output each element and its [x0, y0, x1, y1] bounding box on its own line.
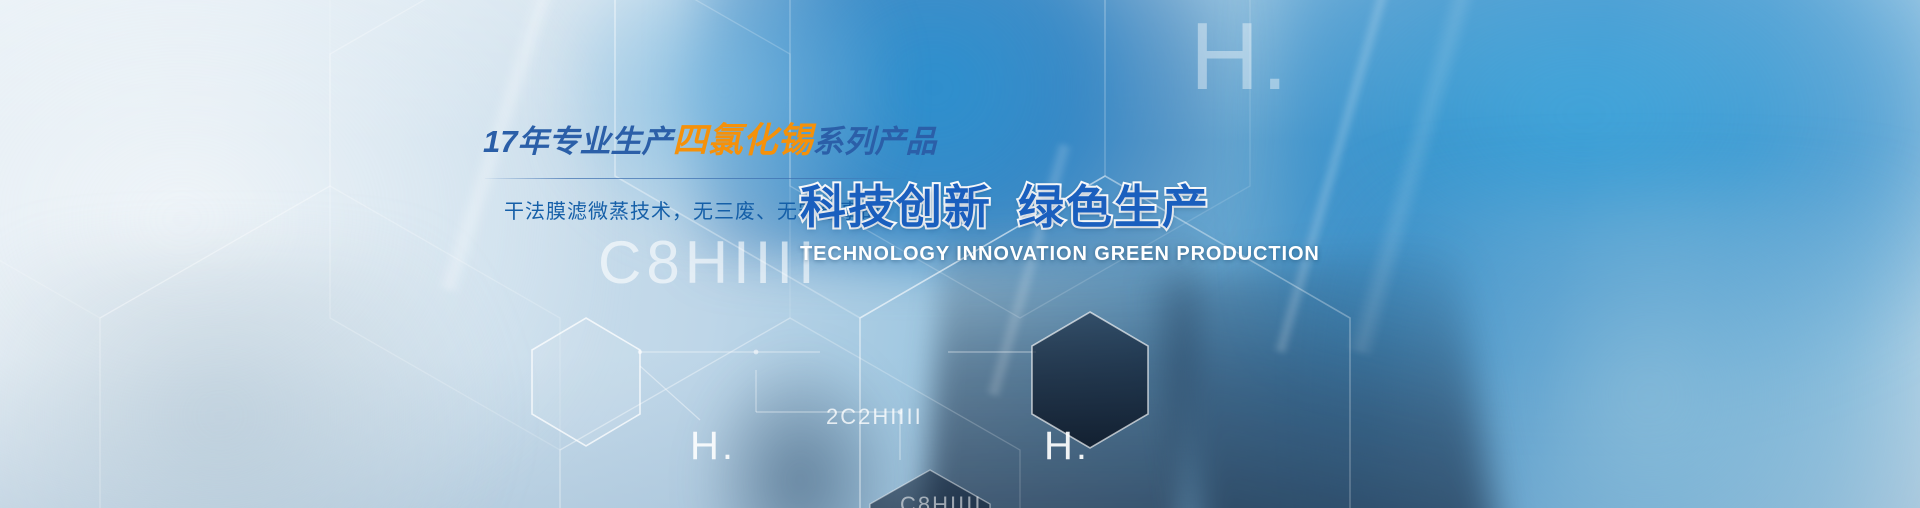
- headline-prefix: 17年专业生产: [483, 124, 672, 159]
- headline-suffix: 系列产品: [813, 124, 937, 159]
- banner-slogan: 科技创新绿色生产: [800, 182, 1190, 233]
- slogan-part-two: 绿色生产: [1018, 181, 1210, 233]
- decor-formula-c8h: C8HIIII: [598, 228, 820, 297]
- hero-banner: C8HIIII 2C2HIIII C8HIIII H. H. H. 17年专业生…: [0, 0, 1920, 508]
- decor-atom-h-left: H.: [690, 424, 736, 469]
- slogan-part-one: 科技创新: [800, 181, 992, 233]
- headline-accent-product: 四氯化锡: [672, 121, 812, 160]
- decor-formula-2c2h: 2C2HIIII: [826, 404, 923, 430]
- banner-slogan-english: TECHNOLOGY INNOVATION GREEN PRODUCTION: [800, 243, 1190, 266]
- decor-atom-h-right: H.: [1044, 424, 1090, 469]
- decor-formula-bottom: C8HIIII: [900, 492, 982, 508]
- banner-headline: 17年专业生产四氯化锡系列产品: [483, 122, 903, 161]
- slogan-block: 科技创新绿色生产 TECHNOLOGY INNOVATION GREEN PRO…: [800, 182, 1190, 266]
- headline-divider: [485, 178, 901, 179]
- decor-atom-h-large: H.: [1190, 2, 1290, 112]
